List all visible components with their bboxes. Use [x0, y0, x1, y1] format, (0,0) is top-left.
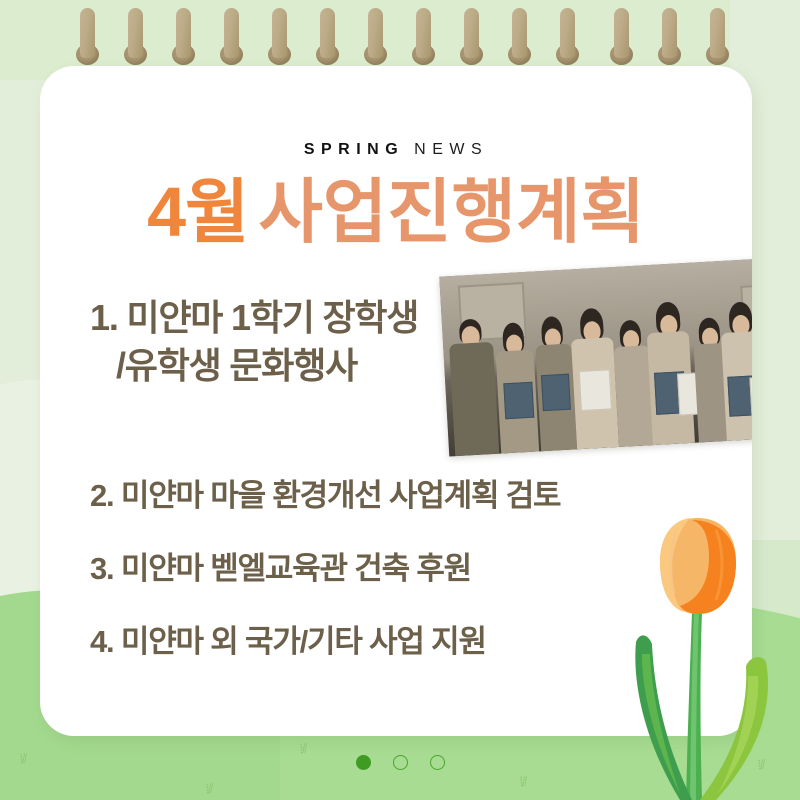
list-item: 3. 미얀마 벧엘교육관 건축 후원	[90, 543, 710, 588]
grass-tuft-icon: ⦙⫽	[205, 782, 213, 796]
list-item: 1. 미얀마 1학기 장학생 /유학생 문화행사	[90, 294, 460, 390]
pagination-dot-1[interactable]	[356, 755, 371, 770]
list-item-text-line2: /유학생 문화행사	[90, 342, 460, 390]
agenda-list: 1. 미얀마 1학기 장학생 /유학생 문화행사 2. 미얀마 마을 환경개선 …	[90, 294, 710, 661]
title-month: 4월	[147, 173, 248, 251]
grass-tuft-icon: ⦙⫽	[299, 742, 307, 756]
list-item-number: 3.	[90, 551, 113, 586]
list-item-number: 1.	[90, 297, 118, 338]
pagination-dot-2[interactable]	[393, 755, 408, 770]
kicker-light-text: NEWS	[414, 141, 488, 158]
pagination-dot-3[interactable]	[430, 755, 445, 770]
list-item-text: 미얀마 외 국가/기타 사업 지원	[121, 624, 486, 659]
kicker-label: SPRINGNEWS	[40, 142, 752, 158]
carousel-pagination[interactable]	[0, 755, 800, 770]
list-item-number: 4.	[90, 624, 113, 659]
list-item: 4. 미얀마 외 국가/기타 사업 지원	[90, 616, 710, 661]
page-title: 4월사업진행계획	[40, 172, 752, 253]
list-item-text: 미얀마 벧엘교육관 건축 후원	[121, 551, 471, 586]
newsletter-card: SPRINGNEWS 4월사업진행계획	[40, 66, 752, 736]
kicker-bold-text: SPRING	[304, 141, 404, 158]
list-item-text: 미얀마 1학기 장학생	[126, 297, 418, 338]
list-item-text: 미얀마 마을 환경개선 사업계획 검토	[121, 478, 560, 513]
list-item: 2. 미얀마 마을 환경개선 사업계획 검토	[90, 470, 710, 515]
slide-canvas: ⦙⫽ ⦙⫽ ⦙⫽ ⦙⫽ ⦙⫽ ⦙⫽ ⦙⫽ SPRINGNEWS 4월사업진행계획	[0, 0, 800, 800]
list-item-number: 2.	[90, 478, 113, 513]
grass-tuft-icon: ⦙⫽	[519, 775, 527, 789]
title-rest: 사업진행계획	[258, 173, 644, 251]
